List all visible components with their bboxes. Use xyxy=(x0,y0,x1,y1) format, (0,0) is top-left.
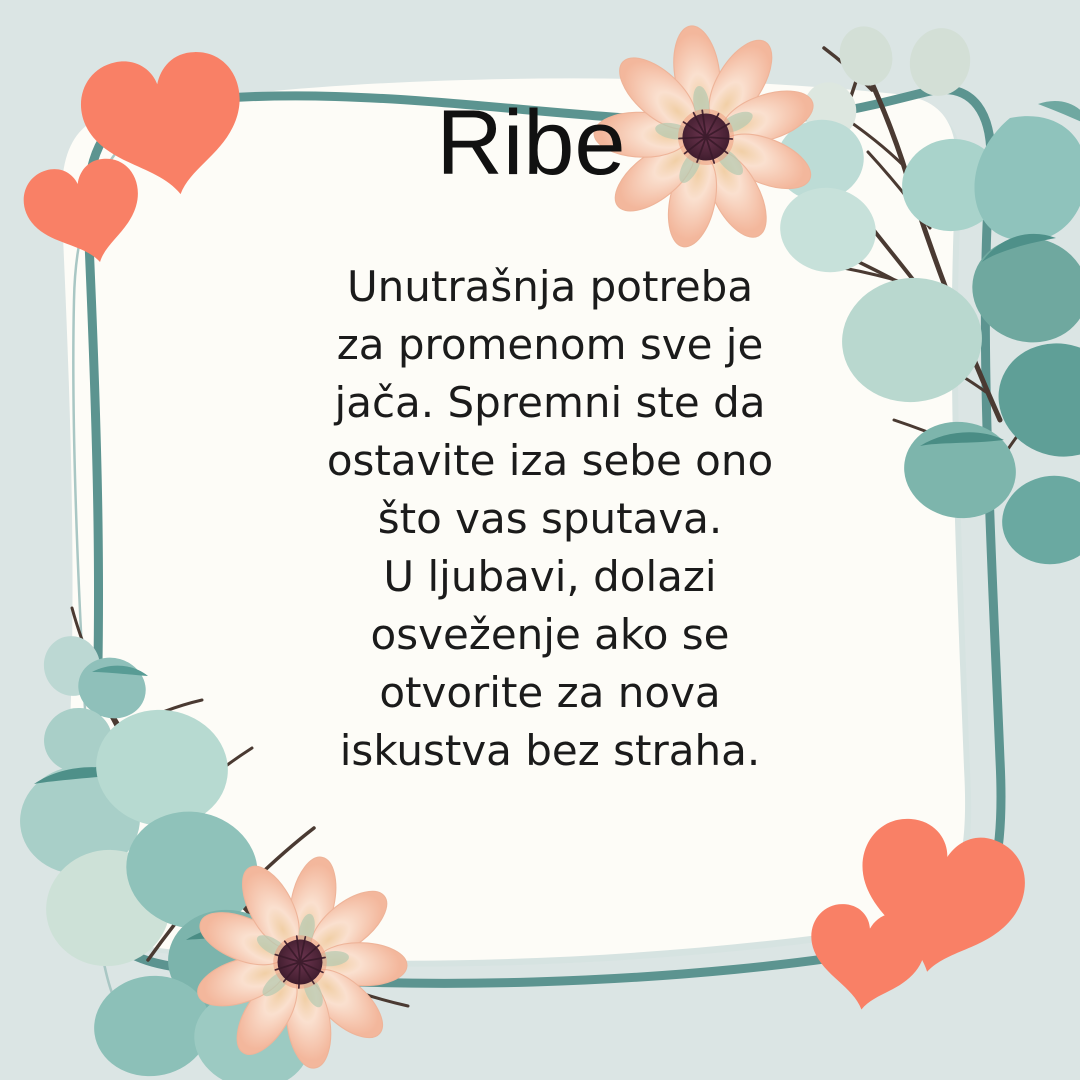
quote-line: jača. Spremni ste da xyxy=(290,374,810,432)
quote-line: U ljubavi, dolazi xyxy=(290,548,810,606)
quote-line: ostavite iza sebe ono xyxy=(290,432,810,490)
page-title: Ribe xyxy=(0,97,1080,189)
quote-line: osveženje ako se xyxy=(290,606,810,664)
quote-line: iskustva bez straha. xyxy=(290,722,810,780)
quote-body: Unutrašnja potreba za promenom sve je ja… xyxy=(290,258,810,780)
page-title-text: Ribe xyxy=(436,97,625,189)
quote-line: Unutrašnja potreba xyxy=(290,258,810,316)
zodiac-quote-card: Ribe Unutrašnja potreba za promenom sve … xyxy=(0,0,1080,1080)
anemone-flower-bottom-left xyxy=(171,835,429,1080)
quote-line: što vas sputava. xyxy=(290,490,810,548)
quote-line: otvorite za nova xyxy=(290,664,810,722)
quote-line: za promenom sve je xyxy=(290,316,810,374)
